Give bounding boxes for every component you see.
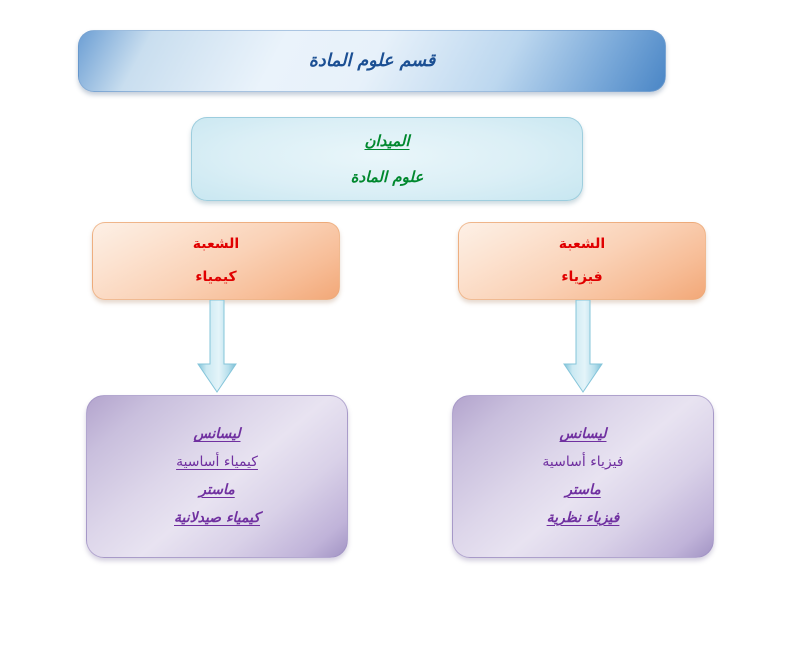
page-title: قسم علوم المادة bbox=[309, 51, 436, 72]
down-arrow-icon bbox=[196, 300, 238, 395]
degree-item: فيزياء نظرية bbox=[547, 510, 620, 527]
degree-item: فيزياء أساسية bbox=[542, 454, 623, 471]
degree-item: ليسانس bbox=[560, 426, 607, 443]
field-value: علوم المادة bbox=[351, 168, 424, 186]
branch-box-physics: الشعبة فيزياء bbox=[458, 222, 706, 300]
branch-label-physics: الشعبة bbox=[559, 236, 605, 253]
branch-label-chemistry: الشعبة bbox=[193, 236, 239, 253]
diagram-canvas: قسم علوم المادة الميدان علوم المادة الشع… bbox=[0, 0, 806, 664]
degree-item: كيمياء أساسية bbox=[176, 454, 258, 471]
degree-item: ماستر bbox=[565, 482, 600, 499]
degrees-box-physics: ليسانس فيزياء أساسية ماستر فيزياء نظرية bbox=[452, 395, 714, 558]
field-box: الميدان علوم المادة bbox=[191, 117, 583, 201]
degree-item: ليسانس bbox=[194, 426, 241, 443]
department-title-box: قسم علوم المادة bbox=[78, 30, 666, 92]
degree-item: كيمياء صيدلانية bbox=[174, 510, 260, 527]
branch-name-chemistry: كيمياء bbox=[195, 269, 236, 286]
degree-item: ماستر bbox=[199, 482, 234, 499]
field-label: الميدان bbox=[365, 132, 410, 150]
degrees-box-chemistry: ليسانس كيمياء أساسية ماستر كيمياء صيدلان… bbox=[86, 395, 348, 558]
branch-box-chemistry: الشعبة كيمياء bbox=[92, 222, 340, 300]
branch-name-physics: فيزياء bbox=[561, 269, 602, 286]
down-arrow-icon bbox=[562, 300, 604, 395]
